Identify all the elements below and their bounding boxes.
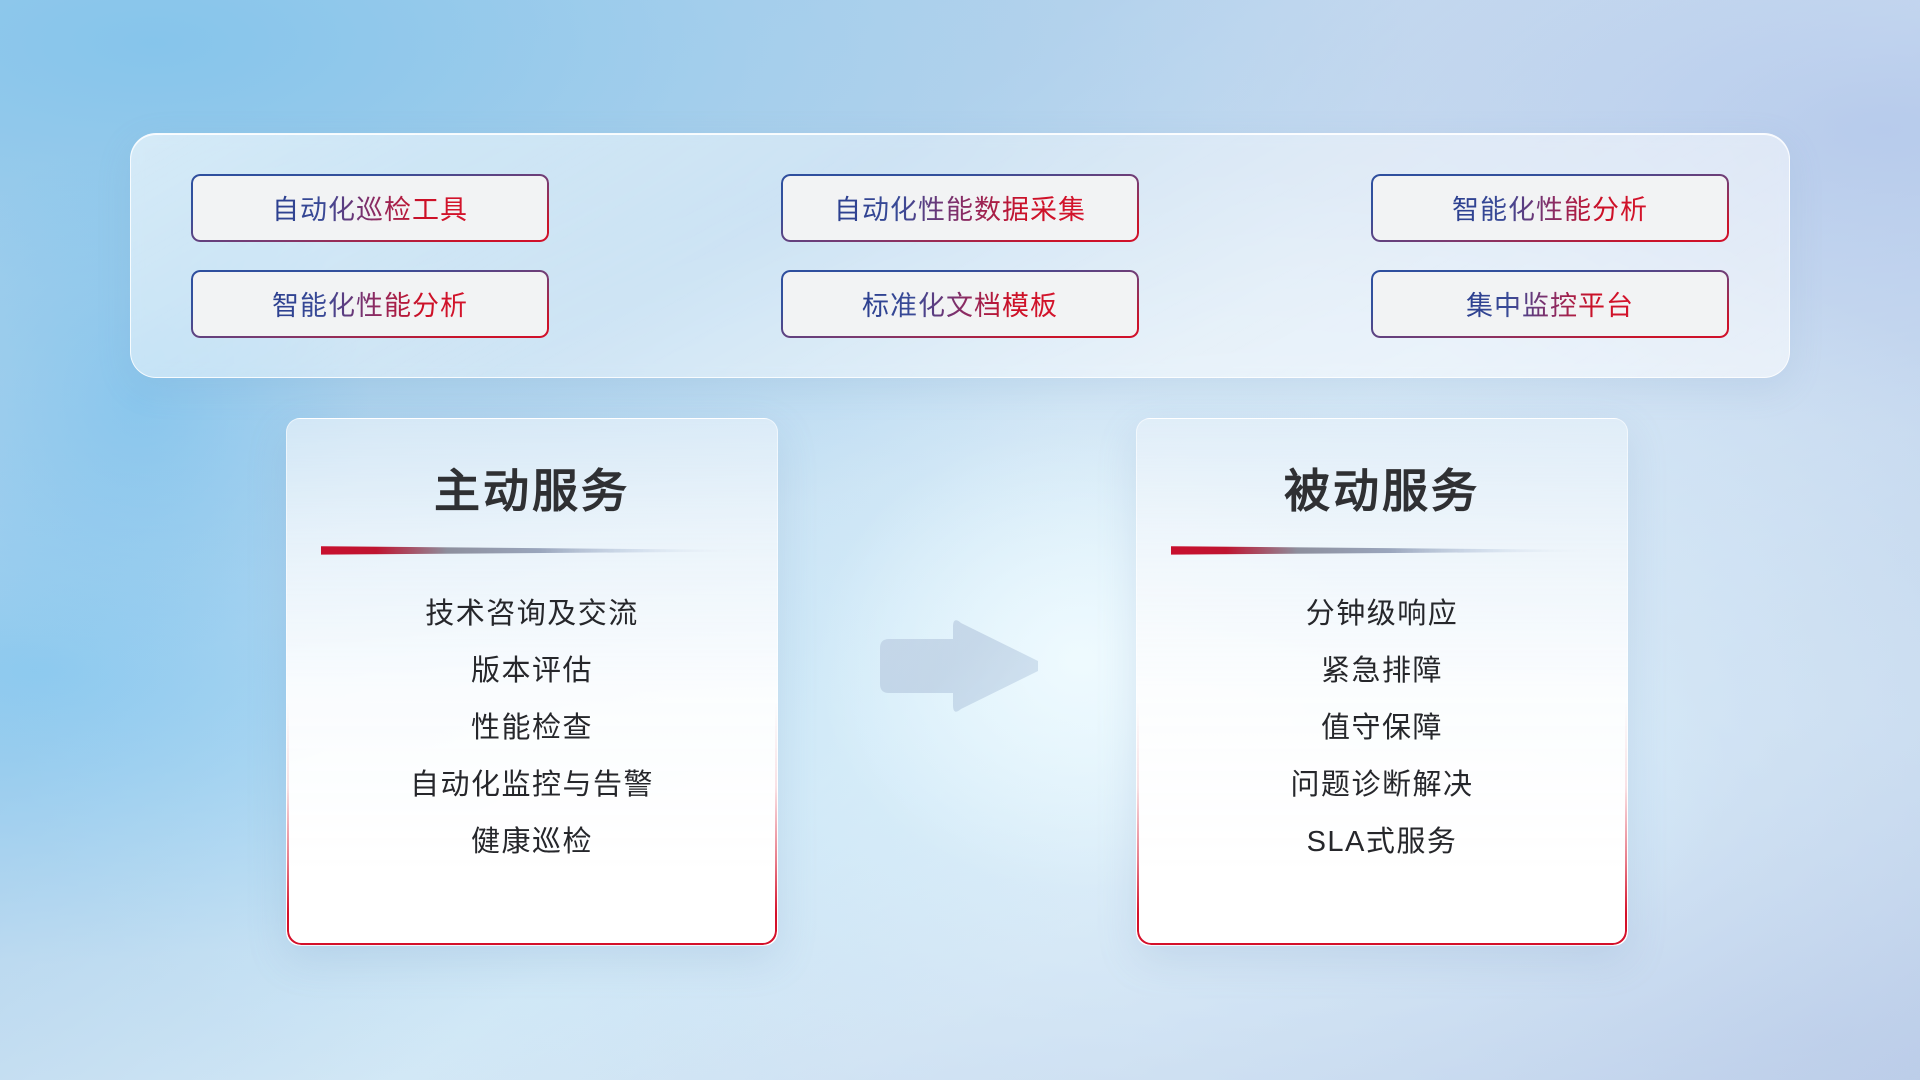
divider-taper-icon [1171,545,1593,556]
service-card-reactive: 被动服务 [1136,418,1628,946]
divider-taper-icon [321,545,743,556]
service-item: 问题诊断解决 [1137,757,1627,814]
capability-tag-label: 标准化文档模板 [862,284,1058,323]
capability-tag-label: 集中监控平台 [1466,284,1634,323]
capability-tag-row-2: 智能化性能分析 标准化文档模板 集中监控平台 [191,270,1729,338]
service-item: SLA式服务 [1137,814,1627,871]
service-item: 分钟级响应 [1137,586,1627,643]
service-item: 紧急排障 [1137,643,1627,700]
capability-tag[interactable]: 智能化性能分析 [1371,174,1729,242]
capability-tag-panel: 自动化巡检工具 自动化性能数据采集 智能化性能分析 智能化性能分析 标准化文档模… [130,133,1790,378]
capability-tag[interactable]: 标准化文档模板 [781,270,1139,338]
arrow-shape [872,614,1038,718]
service-item: 性能检查 [287,700,777,757]
service-item-list: 技术咨询及交流 版本评估 性能检查 自动化监控与告警 健康巡检 [287,586,777,871]
capability-tag[interactable]: 智能化性能分析 [191,270,549,338]
service-card-proactive: 主动服务 [286,418,778,946]
card-divider [287,545,777,556]
capability-tag-label: 自动化巡检工具 [272,188,468,227]
service-item: 版本评估 [287,643,777,700]
service-item: 技术咨询及交流 [287,586,777,643]
capability-tag-row-1: 自动化巡检工具 自动化性能数据采集 智能化性能分析 [191,174,1729,242]
capability-tag-label: 自动化性能数据采集 [834,188,1086,227]
flow-arrow-right-icon [872,614,1038,718]
service-item-list: 分钟级响应 紧急排障 值守保障 问题诊断解决 SLA式服务 [1137,586,1627,871]
capability-tag-label: 智能化性能分析 [272,284,468,323]
diagram-stage: 自动化巡检工具 自动化性能数据采集 智能化性能分析 智能化性能分析 标准化文档模… [0,0,1920,1080]
card-title: 主动服务 [287,455,777,521]
capability-tag[interactable]: 自动化性能数据采集 [781,174,1139,242]
service-item: 健康巡检 [287,814,777,871]
service-item: 自动化监控与告警 [287,757,777,814]
capability-tag-label: 智能化性能分析 [1452,188,1648,227]
card-divider [1137,545,1627,556]
capability-tag[interactable]: 自动化巡检工具 [191,174,549,242]
service-item: 值守保障 [1137,700,1627,757]
capability-tag[interactable]: 集中监控平台 [1371,270,1729,338]
card-title: 被动服务 [1137,455,1627,521]
